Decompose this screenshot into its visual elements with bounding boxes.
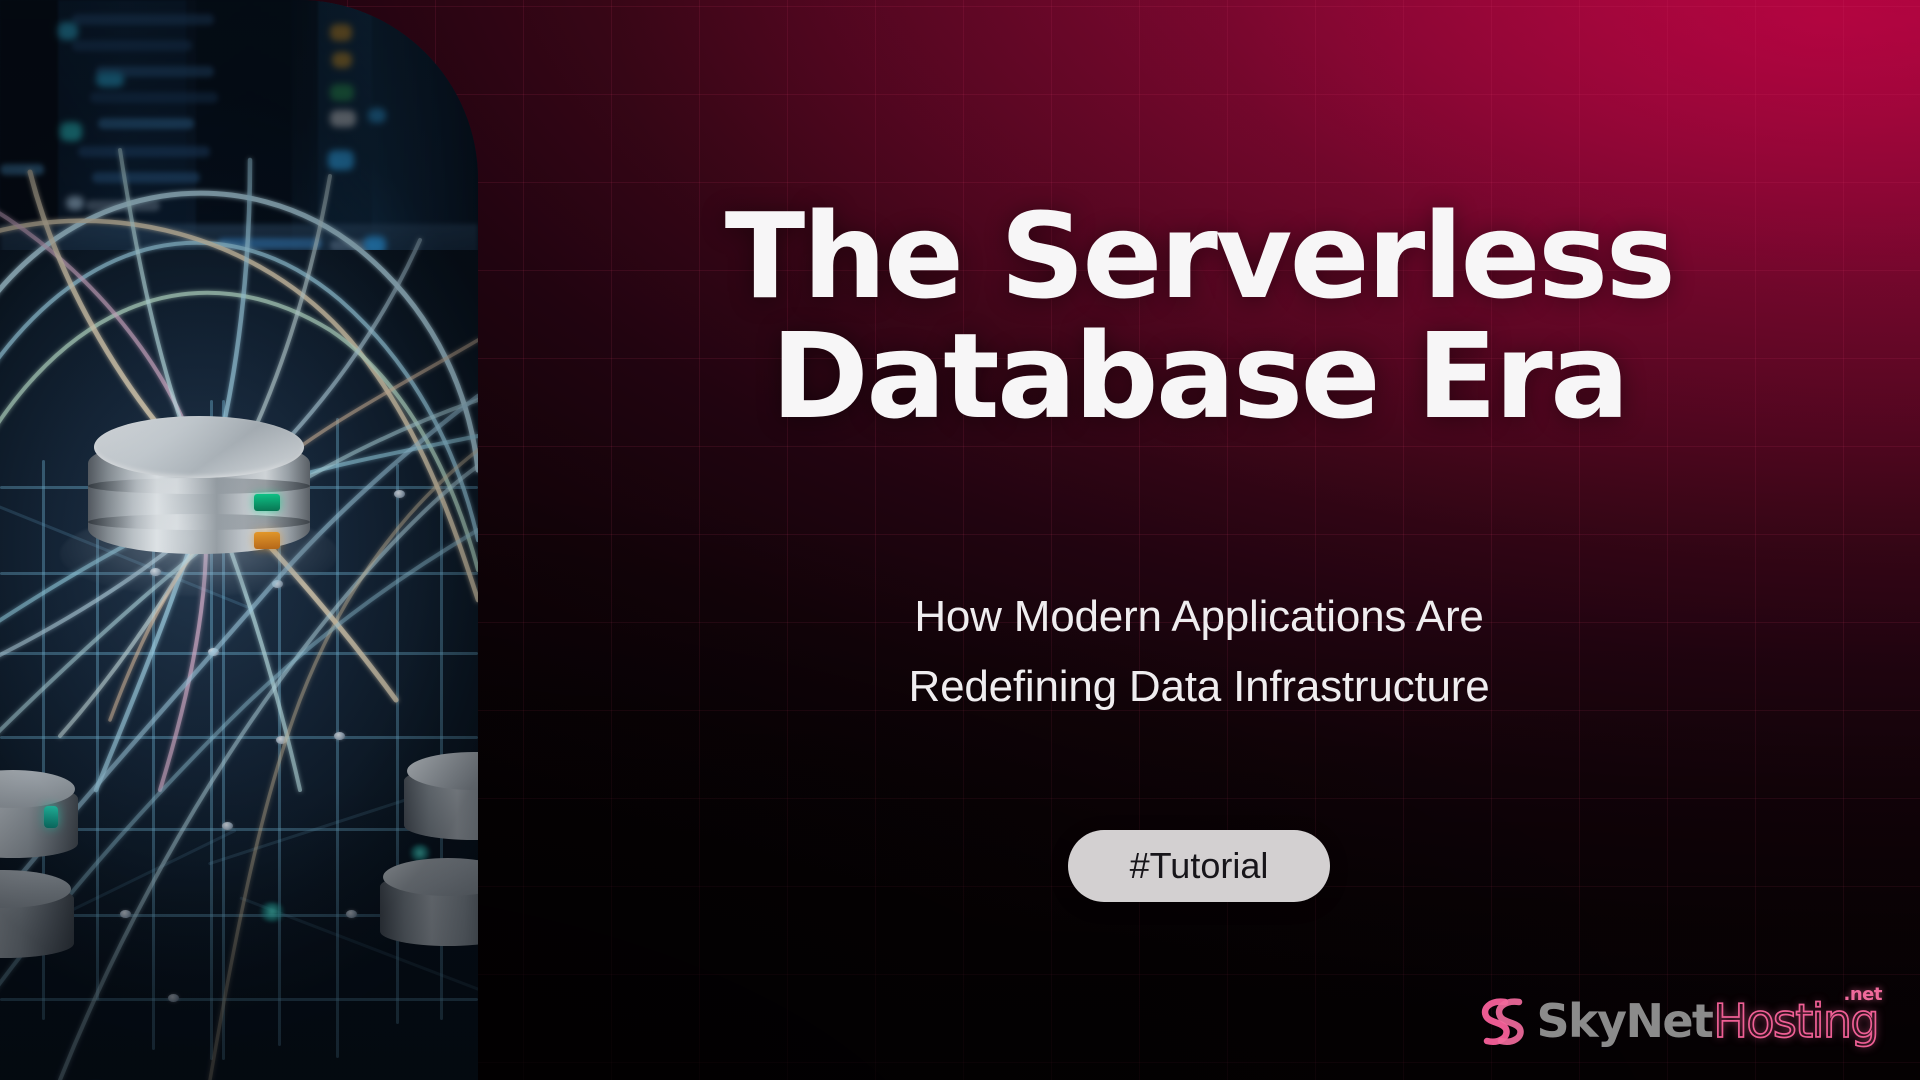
page-subtitle: How Modern Applications Are Redefining D… bbox=[478, 582, 1920, 722]
image-tint-overlay bbox=[0, 0, 478, 1080]
brand-name-primary: SkyNet bbox=[1537, 998, 1713, 1044]
tag-row: #Tutorial bbox=[478, 830, 1920, 902]
hero-banner: The Serverless Database Era How Modern A… bbox=[0, 0, 1920, 1080]
hero-content: The Serverless Database Era How Modern A… bbox=[478, 0, 1920, 1080]
brand-logo[interactable]: SkyNet Hosting .net bbox=[1475, 990, 1878, 1052]
subtitle-line-1: How Modern Applications Are bbox=[628, 582, 1770, 652]
title-line-1: The Serverless bbox=[598, 196, 1800, 316]
title-line-2: Database Era bbox=[598, 316, 1800, 436]
subtitle-line-2: Redefining Data Infrastructure bbox=[628, 652, 1770, 722]
page-title: The Serverless Database Era bbox=[478, 196, 1920, 436]
hero-image bbox=[0, 0, 478, 1080]
hero-image-panel bbox=[0, 0, 478, 1080]
brand-tld: .net bbox=[1844, 986, 1882, 1004]
tag-badge-tutorial[interactable]: #Tutorial bbox=[1068, 830, 1330, 902]
skynet-swirl-icon bbox=[1475, 995, 1529, 1047]
brand-wordmark: SkyNet Hosting .net bbox=[1537, 998, 1878, 1044]
